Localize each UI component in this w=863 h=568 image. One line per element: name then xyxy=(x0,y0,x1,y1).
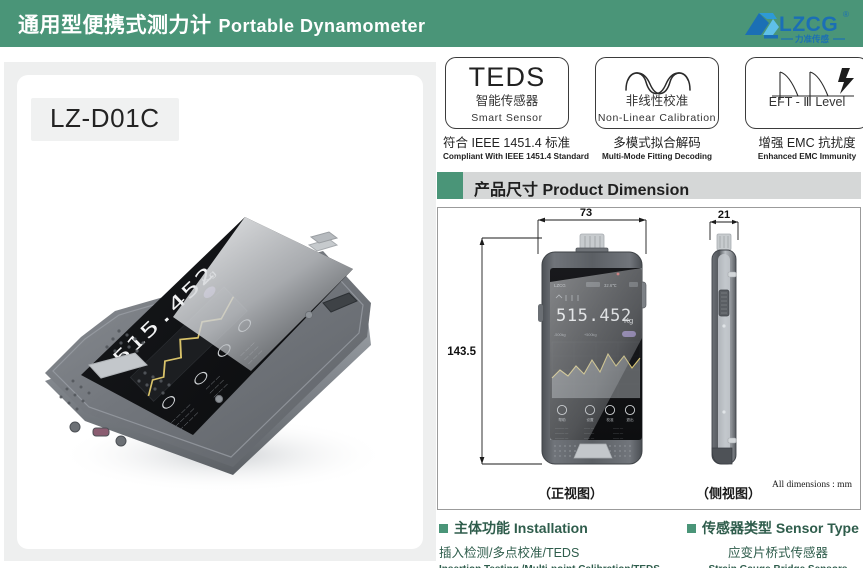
section-header-en: Product Dimension xyxy=(542,182,689,199)
badge-teds-sub-cn: 符合 IEEE 1451.4 标准 xyxy=(443,132,569,151)
section-header-product-dimension: 产品尺寸 Product Dimension xyxy=(437,172,861,199)
page-title: 通用型便携式测力计Portable Dynamometer xyxy=(18,9,426,39)
feature-sensor-type-title-cn: 传感器类型 xyxy=(702,520,772,536)
feature-installation-en: Insertion Testing /Multi-point Calibrati… xyxy=(439,564,660,568)
badge-nonlinear-cn: 非线性校准 xyxy=(596,90,718,109)
badge-eft-sub-cn: 增强 EMC 抗扰度 xyxy=(745,132,863,151)
page-title-cn: 通用型便携式测力计 xyxy=(18,14,212,37)
feature-badge-row: TEDS 智能传感器 Smart Sensor 符合 IEEE 1451.4 标… xyxy=(437,57,861,165)
badge-eft-sub-en: Enhanced EMC Immunity xyxy=(745,152,863,161)
feature-sensor-type-cn: 应变片桥式传感器 xyxy=(687,542,859,561)
front-view-caption: （正视图） xyxy=(538,483,603,502)
right-column: TEDS 智能传感器 Smart Sensor 符合 IEEE 1451.4 标… xyxy=(437,57,861,565)
dimension-drawing: 73 143.5 xyxy=(438,208,860,509)
logo-subtext: 力准传感 xyxy=(795,34,830,44)
page-title-en: Portable Dynamometer xyxy=(212,16,426,36)
section-header-cn: 产品尺寸 xyxy=(474,182,538,199)
badge-teds-en: Smart Sensor xyxy=(446,112,568,124)
section-header-text: 产品尺寸 Product Dimension xyxy=(474,176,689,200)
badge-nonlinear-sub-en: Multi-Mode Fitting Decoding xyxy=(595,152,719,161)
bullet-square-icon xyxy=(687,524,696,533)
svg-text:—— —: —— — xyxy=(613,426,624,430)
badge-eft-box: EFT - Ⅲ Level xyxy=(745,57,863,129)
feature-installation: 主体功能 Installation 插入检测/多点校准/TEDS Inserti… xyxy=(439,518,660,568)
registered-trademark-icon: ® xyxy=(843,10,849,19)
svg-text:—— —: —— — xyxy=(613,431,624,435)
feature-sensor-type-en: Strain Gauge Bridge Sensors xyxy=(687,564,859,568)
logo-wordmark: LZCG xyxy=(779,13,838,36)
product-photo-card: LZ-D01C xyxy=(17,75,423,549)
front-screen-btn4: 退出 xyxy=(626,417,634,422)
svg-text:—— —: —— — xyxy=(613,436,624,440)
badge-nonlinear-sub-cn: 多模式拟合解码 xyxy=(595,132,719,151)
page-header: 通用型便携式测力计Portable Dynamometer LZCG ® 力准传… xyxy=(0,0,863,47)
product-photo-panel: LZ-D01C xyxy=(4,62,436,561)
dimension-height-label: 143.5 xyxy=(447,346,476,358)
dimension-depth-label: 21 xyxy=(718,209,730,221)
feature-installation-title: 主体功能 Installation xyxy=(454,518,588,538)
feature-sensor-type-title: 传感器类型 Sensor Type xyxy=(702,518,859,538)
badge-eft-sub: 增强 EMC 抗扰度 Enhanced EMC Immunity xyxy=(745,132,863,161)
badge-teds: TEDS 智能传感器 Smart Sensor 符合 IEEE 1451.4 标… xyxy=(445,57,569,161)
badge-teds-sub-en: Compliant With IEEE 1451.4 Standard xyxy=(443,152,569,161)
badge-teds-cn: 智能传感器 xyxy=(446,90,568,109)
feature-installation-cn: 插入检测/多点校准/TEDS xyxy=(439,542,660,561)
badge-nonlinear-sub: 多模式拟合解码 Multi-Mode Fitting Decoding xyxy=(595,132,719,161)
model-number-badge: LZ-D01C xyxy=(31,98,179,141)
product-photo-image: LZCG 515.452 Kg xyxy=(23,185,417,525)
badge-nonlinear-box: 非线性校准 Non-Linear Calibration xyxy=(595,57,719,129)
feature-installation-head: 主体功能 Installation xyxy=(439,518,660,538)
front-screen-btn3: 校准 xyxy=(606,417,614,422)
badge-eft-cn: EFT - Ⅲ Level xyxy=(746,94,863,109)
badge-teds-title: TEDS xyxy=(446,62,568,93)
datasheet-page: 通用型便携式测力计Portable Dynamometer LZCG ® 力准传… xyxy=(0,0,863,568)
badge-teds-sub: 符合 IEEE 1451.4 标准 Compliant With IEEE 14… xyxy=(445,132,569,161)
bullet-square-icon xyxy=(439,524,448,533)
feature-sensor-type-head: 传感器类型 Sensor Type xyxy=(687,518,859,538)
section-accent-swatch xyxy=(437,172,463,199)
badge-nonlinear-en: Non-Linear Calibration xyxy=(596,112,718,124)
dimension-drawing-box: 73 143.5 xyxy=(437,207,861,510)
units-note: All dimensions : mm xyxy=(772,480,852,490)
badge-nonlinear-calibration: 非线性校准 Non-Linear Calibration 多模式拟合解码 Mul… xyxy=(595,57,719,161)
badge-teds-box: TEDS 智能传感器 Smart Sensor xyxy=(445,57,569,129)
feature-installation-title-en: Installation xyxy=(514,520,588,536)
badge-eft-level: EFT - Ⅲ Level 增强 EMC 抗扰度 Enhanced EMC Im… xyxy=(745,57,863,161)
feature-installation-title-cn: 主体功能 xyxy=(454,520,510,536)
feature-notes: 主体功能 Installation 插入检测/多点校准/TEDS Inserti… xyxy=(437,518,861,568)
feature-sensor-type-title-en: Sensor Type xyxy=(776,520,859,536)
dimension-width-label: 73 xyxy=(580,208,592,219)
side-view-caption: （侧视图） xyxy=(696,483,761,502)
brand-logo: LZCG ® 力准传感 xyxy=(739,5,857,45)
feature-sensor-type: 传感器类型 Sensor Type 应变片桥式传感器 Strain Gauge … xyxy=(687,518,859,568)
model-number: LZ-D01C xyxy=(50,103,160,133)
